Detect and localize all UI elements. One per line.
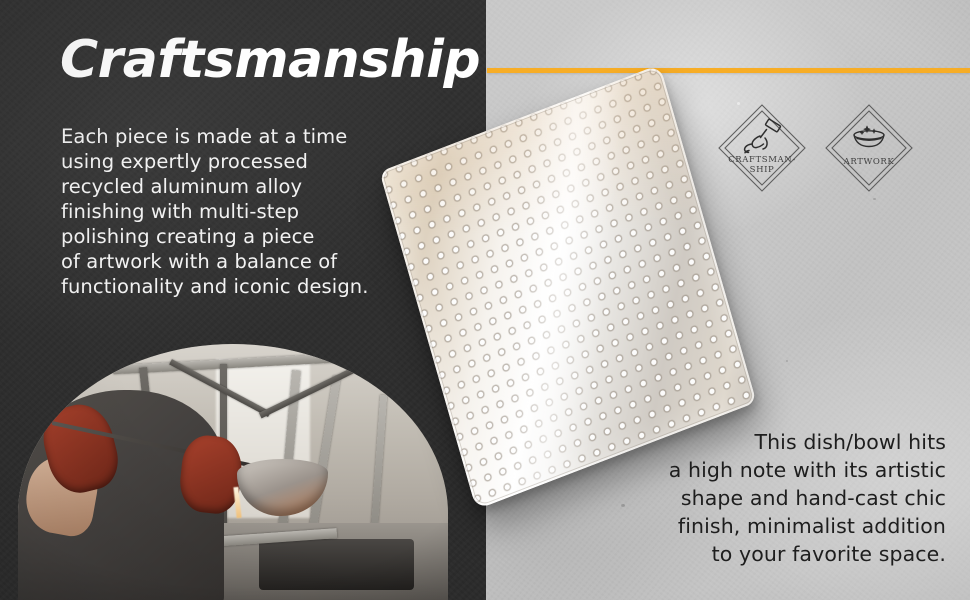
badge-label-line1: ARTWORK: [844, 157, 895, 167]
right-description-line: to your favorite space.: [576, 540, 946, 568]
right-description-line: shape and hand-cast chic: [576, 484, 946, 512]
left-description-line: of artwork with a balance of: [61, 249, 461, 274]
badge-label-line2: SHIP: [750, 165, 775, 175]
badge-label-line1: CRAFTSMAN-: [728, 155, 796, 165]
sparkling-bowl-icon: [854, 126, 884, 147]
banner-stage: Craftsmanship Each piece is made at a ti…: [0, 0, 970, 600]
right-description-line: This dish/bowl hits: [576, 428, 946, 456]
diamond-outline-icon: [716, 102, 808, 194]
page-title: Craftsmanship: [60, 33, 480, 88]
workshop-photo-content: [18, 344, 448, 600]
workshop-photo: [18, 344, 448, 600]
left-description-line: Each piece is made at a time: [61, 124, 461, 149]
diamond-outline-icon: [823, 102, 915, 194]
accent-rule: [487, 68, 970, 73]
left-description-line: finishing with multi-step: [61, 199, 461, 224]
left-description-line: polishing creating a piece: [61, 224, 461, 249]
photo-vignette: [18, 344, 448, 600]
badge-craftsmanship: CRAFTSMAN- SHIP: [716, 102, 808, 194]
badge-label: CRAFTSMAN- SHIP: [716, 155, 808, 175]
right-description-line: a high note with its artistic: [576, 456, 946, 484]
left-description-line: recycled aluminum alloy: [61, 174, 461, 199]
badge-artwork: ARTWORK: [823, 102, 915, 194]
left-description: Each piece is made at a time using exper…: [61, 124, 461, 299]
right-description-line: finish, minimalist addition: [576, 512, 946, 540]
left-description-line: using expertly processed: [61, 149, 461, 174]
badge-label: ARTWORK: [823, 157, 915, 167]
left-description-line: functionality and iconic design.: [61, 274, 461, 299]
right-description: This dish/bowl hits a high note with its…: [576, 428, 946, 568]
